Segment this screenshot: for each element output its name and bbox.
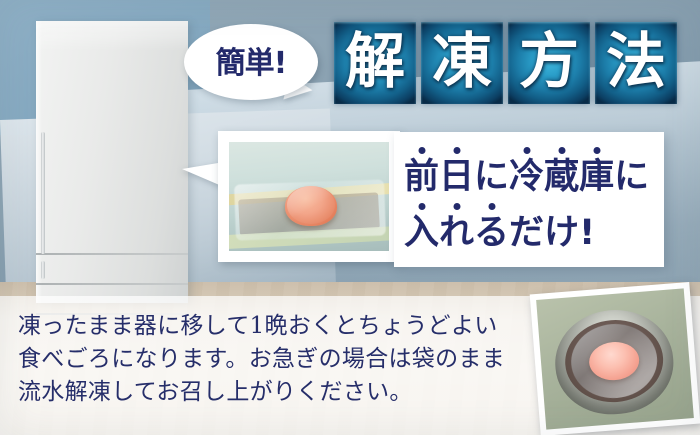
- photo-bowl-water-image: [536, 288, 694, 429]
- headline-char: れ: [439, 214, 474, 252]
- refrigerator-door-seam: [36, 253, 188, 255]
- title-character-2: 凍: [432, 32, 492, 92]
- easy-badge-label: 簡単!: [216, 38, 287, 82]
- body-line-1: 凍ったまま器に移して1晩おくとちょうどよい: [18, 310, 528, 343]
- headline-line-2: 入 れ る だ け !: [404, 196, 649, 252]
- photo-fridge-shelf: [218, 131, 400, 262]
- headline-char: 日: [439, 158, 474, 196]
- photo-bowl-water: [530, 282, 700, 435]
- refrigerator-door-seam: [36, 283, 188, 285]
- title-character-4: 法: [606, 32, 666, 92]
- photo-fridge-shelf-image: [229, 142, 389, 251]
- headline-char: 庫: [579, 158, 614, 196]
- title-character-3: 方: [519, 32, 579, 92]
- title-character-boxes: 解 凍 方 法: [334, 22, 677, 104]
- title-box-1: 解: [334, 22, 416, 104]
- headline-text: 前 日 に 冷 蔵 庫 に 入 れ る だ け !: [404, 140, 649, 252]
- headline-char: 前: [404, 158, 439, 196]
- body-line-2: 食べごろになります。お急ぎの場合は袋のまま: [18, 343, 528, 376]
- headline-char: 入: [404, 214, 439, 252]
- headline-char: に: [614, 158, 649, 196]
- photo-food-gloss: [287, 186, 335, 224]
- title-character-1: 解: [345, 32, 405, 92]
- headline-char: !: [579, 214, 595, 252]
- headline-line-1: 前 日 に 冷 蔵 庫 に: [404, 140, 649, 196]
- title-box-3: 方: [508, 22, 590, 104]
- refrigerator-illustration: [36, 21, 188, 303]
- refrigerator-handle: [41, 132, 45, 254]
- refrigerator-highlight: [36, 21, 188, 51]
- headline-char: る: [474, 214, 509, 252]
- body-paragraph: 凍ったまま器に移して1晩おくとちょうどよい 食べごろになります。お急ぎの場合は袋…: [18, 310, 528, 409]
- headline-char: 蔵: [544, 158, 579, 196]
- title-box-4: 法: [595, 22, 677, 104]
- headline-char: 冷: [509, 158, 544, 196]
- refrigerator-handle-lower: [41, 261, 45, 279]
- poster-root: 簡単! 解 凍 方 法 前 日 に 冷: [0, 0, 700, 435]
- body-line-3: 流水解凍してお召し上がりください。: [18, 376, 528, 409]
- headline-char: け: [544, 214, 579, 252]
- headline-char: に: [474, 158, 509, 196]
- title-box-2: 凍: [421, 22, 503, 104]
- easy-badge: 簡単!: [184, 24, 318, 100]
- headline-char: だ: [509, 214, 544, 252]
